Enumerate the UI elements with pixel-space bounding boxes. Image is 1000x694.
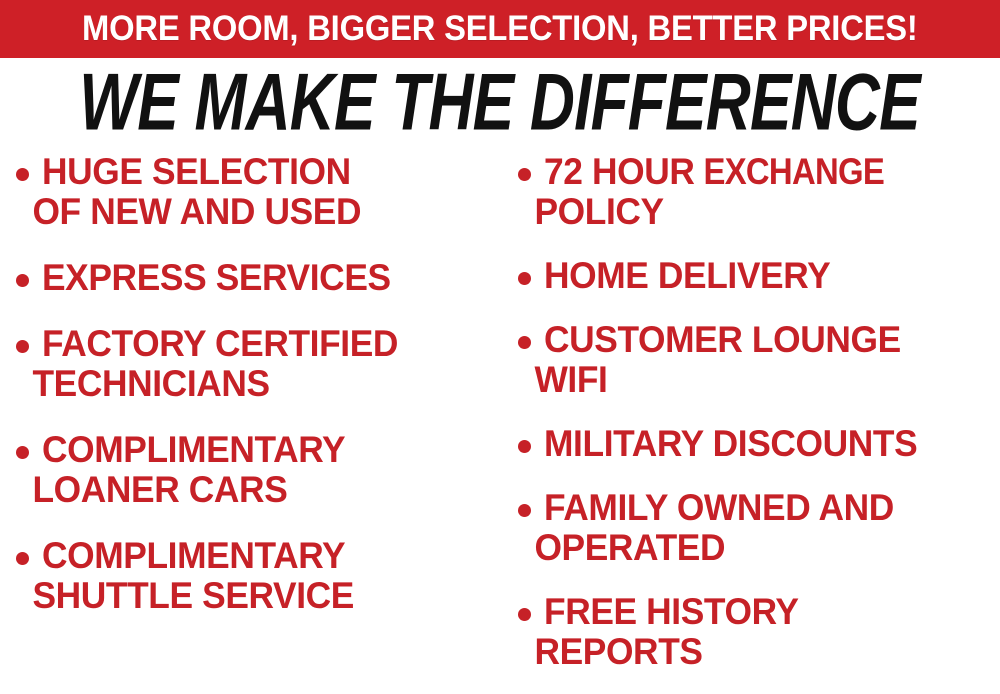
list-item: 72 HOUR EXCHANGE POLICY bbox=[518, 152, 998, 232]
advertisement-poster: MORE ROOM, BIGGER SELECTION, BETTER PRIC… bbox=[0, 0, 1000, 694]
top-banner: MORE ROOM, BIGGER SELECTION, BETTER PRIC… bbox=[0, 0, 1000, 58]
banner-headline-text: MORE ROOM, BIGGER SELECTION, BETTER PRIC… bbox=[82, 11, 918, 47]
list-item-line-1: HOME DELIVERY bbox=[544, 255, 830, 296]
page-title: WE MAKE THE DIFFERENCE bbox=[80, 62, 921, 145]
list-item-line-1-part-b: EXCHANGE bbox=[704, 152, 885, 192]
bullet-dot-icon bbox=[518, 608, 531, 621]
list-item-text: FREE HISTORY REPORTS bbox=[544, 592, 978, 672]
list-item-line-1: FREE HISTORY bbox=[544, 591, 799, 632]
bullet-dot-icon bbox=[518, 168, 531, 181]
list-item-line-1: FACTORY CERTIFIED bbox=[42, 323, 398, 364]
bullet-dot-icon bbox=[16, 340, 29, 353]
list-item-text: 72 HOUR EXCHANGE POLICY bbox=[544, 152, 978, 232]
bullet-dot-icon bbox=[518, 440, 531, 453]
bullet-dot-icon bbox=[16, 552, 29, 565]
list-item: MILITARY DISCOUNTS bbox=[518, 424, 998, 464]
features-columns: HUGE SELECTION OF NEW AND USED EXPRESS S… bbox=[0, 152, 1000, 694]
list-item: FAMILY OWNED AND OPERATED bbox=[518, 488, 998, 568]
features-column-right: 72 HOUR EXCHANGE POLICY HOME DELIVERY CU… bbox=[500, 152, 1000, 694]
list-item-line-2: SHUTTLE SERVICE bbox=[32, 576, 475, 616]
bullet-dot-icon bbox=[16, 168, 29, 181]
list-item-text: COMPLIMENTARY LOANER CARS bbox=[42, 430, 476, 510]
list-item-line-1: COMPLIMENTARY bbox=[42, 429, 345, 470]
list-item: COMPLIMENTARY LOANER CARS bbox=[16, 430, 496, 510]
bullet-dot-icon bbox=[16, 446, 29, 459]
list-item-text: FACTORY CERTIFIED TECHNICIANS bbox=[42, 324, 476, 404]
list-item-text: HUGE SELECTION OF NEW AND USED bbox=[42, 152, 476, 232]
bullet-dot-icon bbox=[518, 504, 531, 517]
list-item-line-1: CUSTOMER LOUNGE bbox=[544, 319, 901, 360]
list-item-line-2: WIFI bbox=[534, 360, 977, 400]
list-item-line-1-part-a: 72 HOUR bbox=[544, 151, 704, 192]
list-item: FREE HISTORY REPORTS bbox=[518, 592, 998, 672]
list-item: FACTORY CERTIFIED TECHNICIANS bbox=[16, 324, 496, 404]
list-item-text: CUSTOMER LOUNGE WIFI bbox=[544, 320, 978, 400]
list-item: CUSTOMER LOUNGE WIFI bbox=[518, 320, 998, 400]
list-item-text: HOME DELIVERY bbox=[544, 256, 978, 296]
list-item-line-1: HUGE SELECTION bbox=[42, 151, 351, 192]
headline-container: WE MAKE THE DIFFERENCE bbox=[0, 62, 1000, 144]
list-item-line-2: OPERATED bbox=[534, 528, 977, 568]
bullet-dot-icon bbox=[518, 272, 531, 285]
list-item-text: COMPLIMENTARY SHUTTLE SERVICE bbox=[42, 536, 476, 616]
list-item-line-1: COMPLIMENTARY bbox=[42, 535, 345, 576]
list-item: HOME DELIVERY bbox=[518, 256, 998, 296]
list-item: COMPLIMENTARY SHUTTLE SERVICE bbox=[16, 536, 496, 616]
list-item: EXPRESS SERVICES bbox=[16, 258, 496, 298]
list-item-line-1: EXPRESS SERVICES bbox=[42, 257, 391, 298]
list-item-line-2: POLICY bbox=[534, 192, 977, 232]
list-item-line-2: OF NEW AND USED bbox=[32, 192, 475, 232]
list-item-line-1: FAMILY OWNED AND bbox=[544, 487, 894, 528]
list-item: HUGE SELECTION OF NEW AND USED bbox=[16, 152, 496, 232]
list-item-line-2: REPORTS bbox=[534, 632, 977, 672]
list-item-line-2: TECHNICIANS bbox=[32, 364, 475, 404]
features-column-left: HUGE SELECTION OF NEW AND USED EXPRESS S… bbox=[0, 152, 500, 694]
list-item-text: EXPRESS SERVICES bbox=[42, 258, 476, 298]
list-item-text: MILITARY DISCOUNTS bbox=[544, 424, 978, 464]
list-item-text: FAMILY OWNED AND OPERATED bbox=[544, 488, 978, 568]
list-item-line-2: LOANER CARS bbox=[32, 470, 475, 510]
bullet-dot-icon bbox=[16, 274, 29, 287]
list-item-line-1: MILITARY DISCOUNTS bbox=[544, 423, 917, 464]
bullet-dot-icon bbox=[518, 336, 531, 349]
